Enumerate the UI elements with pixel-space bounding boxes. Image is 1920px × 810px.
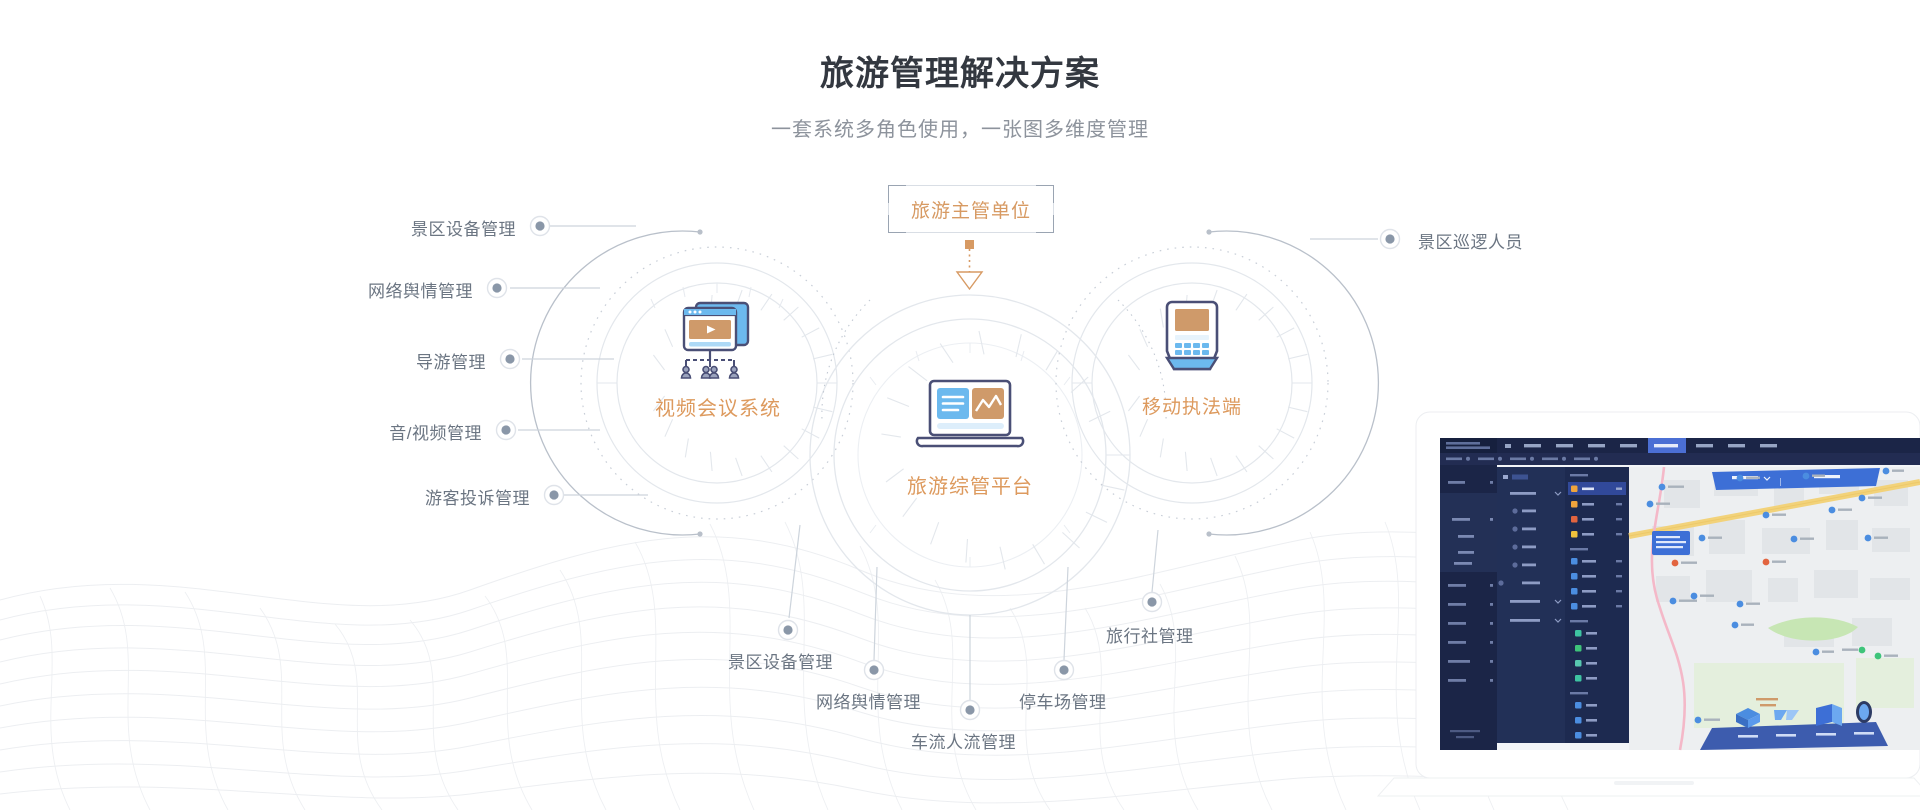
page-subtitle: 一套系统多角色使用，一张图多维度管理 [0,95,1920,142]
node-label-video-conference: 视频会议系统 [628,392,808,421]
page-title: 旅游管理解决方案 [0,0,1920,95]
left-connectors [510,226,648,495]
authority-label: 旅游主管单位 [888,185,1054,233]
bottom-connectors [789,525,1158,700]
node-label-platform: 旅游综管平台 [880,470,1060,499]
authority-box[interactable]: 旅游主管单位 [888,185,1054,233]
laptop-dashboard-preview[interactable] [1364,408,1920,810]
video-window-icon [672,298,764,382]
laptop-dashboard-icon [912,378,1028,456]
right-node-rings [1056,229,1378,536]
node-label-mobile-enforce: 移动执法端 [1112,392,1272,419]
left-node-rings [531,229,853,536]
handheld-device-icon [1161,298,1223,378]
right-dots [1381,230,1400,249]
header: 旅游管理解决方案 一套系统多角色使用，一张图多维度管理 [0,0,1920,142]
authority-connector [957,240,982,289]
